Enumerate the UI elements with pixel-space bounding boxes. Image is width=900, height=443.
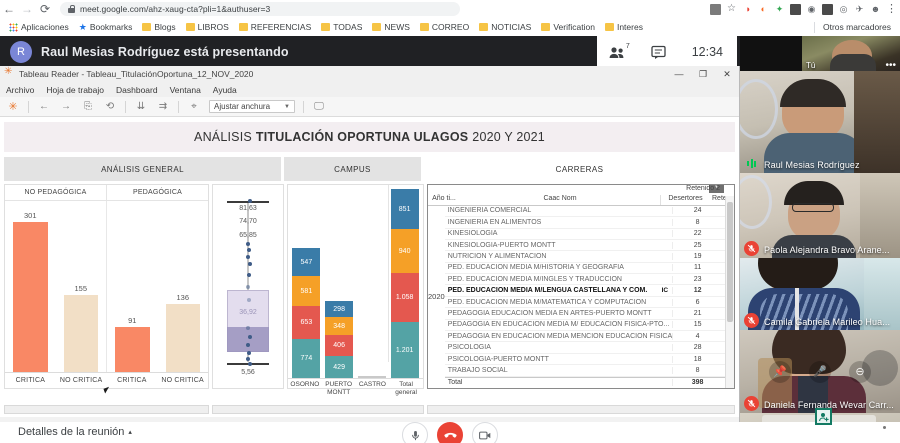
fit-select-value: Ajustar anchura: [214, 102, 270, 111]
panel-header-carreras: CARRERAS: [424, 157, 735, 181]
table-row[interactable]: PEDAGOGIA EN EDUCACION MEDIA MENCION EDU…: [445, 331, 735, 342]
meeting-details-label: Detalles de la reunión: [18, 426, 124, 438]
video-tile-paola[interactable]: Paola Alejandra Bravo Arane...: [740, 173, 900, 258]
bookmark-label: NEWS: [384, 22, 410, 32]
tableau-window: Tableau Reader - Tableau_TitulaciónOport…: [0, 66, 740, 422]
data-point: [246, 357, 250, 361]
stack: 298 348 406 429: [325, 301, 353, 378]
cell-carrera: PED. EDUCACION MEDIA M/LENGUA CASTELLANA…: [445, 287, 662, 294]
folder-icon: [541, 23, 550, 31]
cell-desertores: 22: [672, 230, 722, 237]
participant-name: Camila Gabriela Marileo Hua...: [764, 317, 890, 327]
table-row-total: Total398: [445, 377, 735, 388]
segment-naranja[interactable]: 581: [292, 276, 320, 306]
browser-chrome: ← → ⟳ meet.google.com/ahz-xaug-cta?pli=1…: [0, 0, 900, 36]
bookmark-item-correo[interactable]: CORREO: [416, 21, 473, 33]
axis-tick-no-critica-2: NO CRITICA: [157, 373, 208, 388]
remove-icon[interactable]: ⊖: [849, 361, 871, 383]
table-row[interactable]: TRABAJO SOCIAL8: [445, 365, 735, 376]
folder-icon: [239, 23, 248, 31]
campus-column-castro[interactable]: [356, 189, 389, 378]
mic-button[interactable]: [402, 422, 428, 443]
cell-desertores: 28: [672, 344, 722, 351]
menu-item-ayuda[interactable]: Ayuda: [213, 85, 237, 95]
bookmark-label: REFERENCIAS: [251, 22, 311, 32]
cell-carrera: KINESIOLOGIA: [445, 230, 672, 237]
cell-carrera: INGENIERIA COMERCIAL: [445, 207, 672, 214]
highlight-icon[interactable]: ⌖: [187, 100, 201, 114]
self-label: Tú: [806, 61, 815, 70]
extension-green-icon[interactable]: ✦: [774, 4, 785, 15]
status-dot: [883, 426, 886, 429]
bookmark-item-bookmarks[interactable]: ★ Bookmarks: [75, 21, 137, 33]
horizontal-scrollbar-2[interactable]: [212, 405, 424, 414]
axis-tick-osorno: OSORNO: [288, 381, 322, 397]
bookmark-item-aplicaciones[interactable]: Aplicaciones: [5, 21, 73, 33]
campus-column-total[interactable]: 851 940 1.058 1.201: [388, 189, 421, 378]
axis-tick-total-general: Totalgeneral: [389, 381, 423, 397]
tableau-menubar: Archivo Hoja de trabajo Dashboard Ventan…: [0, 82, 739, 97]
table-header: Año ti... Caac Nom Desertores Rete: [428, 195, 734, 206]
cell-extra: IC: [662, 287, 673, 294]
campus-column-puerto-montt[interactable]: 298 348 406 429: [323, 189, 356, 378]
box-label-lower-whisker: 5,56: [241, 369, 255, 376]
bar-critica[interactable]: [13, 222, 48, 372]
cell-carrera: KINESIOLOGIA-PUERTO MONTT: [445, 242, 672, 249]
cell-desertores: 6: [672, 299, 722, 306]
cell-desertores: 4: [672, 333, 722, 340]
dashboard: ANÁLISIS TITULACIÓN OPORTUNA ULAGOS 2020…: [0, 117, 739, 417]
cell-desertores: 15: [672, 321, 722, 328]
tableau-titlebar: Tableau Reader - Tableau_TitulaciónOport…: [0, 66, 739, 82]
folder-icon: [186, 23, 195, 31]
cell-desertores: 11: [672, 264, 722, 271]
extension-grey-icon[interactable]: ◉: [806, 4, 817, 15]
cell-carrera: PED. EDUCACION MEDIA M/MATEMATICA Y COMP…: [445, 299, 672, 306]
cell-desertores: 25: [672, 242, 722, 249]
axis-tick-puerto-montt: PUERTOMONTT: [322, 381, 356, 397]
presentation-icon[interactable]: 🖵: [312, 100, 326, 114]
bar-critica[interactable]: [115, 327, 150, 372]
bookmark-item-noticias[interactable]: NOTICIAS: [475, 21, 535, 33]
cell-total-label: Total: [445, 379, 672, 386]
cell-desertores: 18: [672, 356, 722, 363]
table-row[interactable]: PSICOLOGIA-PUERTO MONTT18: [445, 354, 735, 365]
stacked-bar-chart-campus[interactable]: 547 581 653 774 298 348 406 429: [287, 184, 424, 389]
participant-name: Paola Alejandra Bravo Arane...: [764, 245, 890, 255]
bookmarks-bar: Aplicaciones ★ Bookmarks Blogs LIBROS RE…: [0, 18, 900, 36]
meeting-time: 12:34: [692, 45, 723, 59]
chevron-down-icon: ▼: [284, 104, 290, 110]
mic-muted-icon: [744, 313, 759, 328]
viz-row: NO PEDAGÓGICA PEDAGÓGICA 301 155: [4, 184, 735, 389]
bar-value: 301: [24, 211, 37, 220]
window-controls: — ❐ ✕: [667, 66, 739, 82]
box-label-q3: 74,70: [239, 218, 257, 225]
menu-item-dashboard[interactable]: Dashboard: [116, 85, 158, 95]
divider: [28, 101, 29, 113]
folder-icon: [605, 23, 614, 31]
cell-desertores: 8: [672, 367, 722, 374]
bar-chart-analisis-general[interactable]: NO PEDAGÓGICA PEDAGÓGICA 301 155: [4, 184, 209, 389]
extension-pin-icon[interactable]: ✈: [854, 4, 865, 15]
campus-plot: 547 581 653 774 298 348 406 429: [288, 185, 423, 378]
data-point: [246, 326, 250, 330]
menu-item-hoja-de-trabajo[interactable]: Hoja de trabajo: [46, 85, 104, 95]
segment-azul[interactable]: 298: [325, 301, 353, 317]
table-row[interactable]: KINESIOLOGIA-PUERTO MONTT25: [445, 240, 735, 251]
folder-icon: [479, 23, 488, 31]
row-group-year: 2020: [428, 206, 445, 388]
divider: [388, 185, 389, 362]
carreras-table[interactable]: ▾ Retenido 2 Año ti... Caac Nom Desertor…: [427, 184, 735, 389]
segment-roja[interactable]: 1.058: [391, 273, 419, 322]
table-group-header-row: Retenido 2: [428, 185, 734, 195]
folder-icon: [142, 23, 151, 31]
menu-item-archivo[interactable]: Archivo: [6, 85, 34, 95]
cell-desertores: 24: [672, 207, 722, 214]
extension-orange-icon[interactable]: ◐: [758, 4, 769, 15]
cell-carrera: PEDAGOGIA EN EDUCACION MEDIA MENCION EDU…: [445, 333, 672, 340]
table-row[interactable]: KINESIOLOGIA22: [445, 229, 735, 240]
bar-chart-axis: CRITICA NO CRITICA CRITICA NO CRITICA: [5, 372, 208, 388]
cell-carrera: PEDAGOGIA EN EDUCACION MEDIA M/ EDUCACIO…: [445, 321, 672, 328]
bookmark-item-verification[interactable]: Verification: [537, 21, 599, 33]
back-arrow-icon[interactable]: ←: [0, 0, 18, 18]
maximize-button[interactable]: ❐: [691, 66, 715, 82]
box-plot-chart[interactable]: 81,63 74,70 65,85 36,92 5,56: [212, 184, 284, 389]
folder-icon: [372, 23, 381, 31]
apps-grid-icon: [9, 23, 18, 32]
data-point: [247, 351, 251, 355]
pin-icon[interactable]: 📌: [769, 361, 791, 383]
cell-carrera: PSICOLOGIA-PUERTO MONTT: [445, 356, 672, 363]
bar-group-no-pedagogica: 301 155: [5, 201, 106, 372]
bookmark-label: Aplicaciones: [21, 22, 69, 32]
box-label-median: 36,92: [239, 309, 257, 316]
address-bar[interactable]: meet.google.com/ahz-xaug-cta?pli=1&authu…: [60, 2, 460, 16]
sort-asc-icon[interactable]: ⇊: [134, 100, 148, 114]
bookmark-label: TODAS: [333, 22, 362, 32]
url-text: meet.google.com/ahz-xaug-cta?pli=1&authu…: [80, 4, 270, 14]
segment-verde[interactable]: 429: [325, 356, 353, 378]
title-bold: TITULACIÓN OPORTUNA ULAGOS: [256, 130, 468, 144]
mic-muted-icon: [744, 396, 759, 411]
bar-value: 155: [74, 284, 87, 293]
axis-tick-critica-1: CRITICA: [5, 373, 56, 388]
bookmark-item-interes[interactable]: Interes: [601, 21, 647, 33]
window-title: Tableau Reader - Tableau_TitulaciónOport…: [19, 69, 253, 79]
table-body: 2020 INGENIERIA COMERCIAL24 INGENIERIA E…: [428, 206, 734, 388]
axis-tick-no-critica-1: NO CRITICA: [56, 373, 107, 388]
table-row[interactable]: INGENIERIA COMERCIAL24: [445, 206, 735, 217]
bar-column[interactable]: 91: [107, 201, 158, 372]
star-icon: ★: [79, 23, 87, 32]
bar-no-critica[interactable]: [166, 304, 201, 372]
self-video-tile[interactable]: Tú •••: [802, 36, 900, 71]
table-row[interactable]: PSICOLOGIA28: [445, 342, 735, 353]
bookmark-item-libros[interactable]: LIBROS: [182, 21, 233, 33]
segment-verde[interactable]: 774: [292, 339, 320, 378]
cell-carrera: NUTRICION Y ALIMENTACION: [445, 253, 672, 260]
bookmark-label: Bookmarks: [90, 22, 133, 32]
table-row[interactable]: PEDAGOGIA EN EDUCACION MEDIA M/ EDUCACIO…: [445, 320, 735, 331]
table-row[interactable]: PEDAGOGIA EDUCACION MEDIA EN ARTES-PUERT…: [445, 308, 735, 319]
bookmark-item-todas[interactable]: TODAS: [317, 21, 366, 33]
title-post: 2020 Y 2021: [472, 130, 545, 144]
presenting-banner: R Raul Mesias Rodríguez está presentando: [10, 41, 289, 63]
cell-carrera: PED. EDUCACION MEDIA M/HISTORIA Y GEOGRA…: [445, 264, 672, 271]
table-row[interactable]: NUTRICION Y ALIMENTACION19: [445, 251, 735, 262]
video-tile-camila[interactable]: Camila Gabriela Marileo Hua...: [740, 258, 900, 330]
extension-circle-icon[interactable]: ◎: [838, 4, 849, 15]
chrome-menu-icon[interactable]: ⋮: [886, 4, 897, 15]
table-row[interactable]: INGENIERIA EN ALIMENTOS8: [445, 217, 735, 228]
refresh-icon[interactable]: ⟲: [103, 100, 117, 114]
forward-arrow-icon[interactable]: →: [59, 100, 73, 114]
bookmark-item-referencias[interactable]: REFERENCIAS: [235, 21, 315, 33]
col-header-desertores[interactable]: Desertores: [660, 195, 710, 205]
extension-dark2-icon[interactable]: [822, 4, 833, 15]
axis-tick-castro: CASTRO: [356, 381, 390, 397]
participant-name: Raul Mesias Rodríguez: [764, 160, 860, 170]
omnibox-row: ← → ⟳ meet.google.com/ahz-xaug-cta?pli=1…: [0, 0, 900, 18]
cell-carrera: INGENIERIA EN ALIMENTOS: [445, 219, 672, 226]
bookmark-label: CORREO: [432, 22, 469, 32]
bar-column[interactable]: 301: [5, 201, 56, 372]
horizontal-scrollbar-1[interactable]: [4, 405, 209, 414]
people-icon[interactable]: 7: [609, 46, 625, 59]
divider: [303, 101, 304, 113]
tableau-logo-icon[interactable]: ✳: [6, 100, 20, 114]
bar-chart-group-headers: NO PEDAGÓGICA PEDAGÓGICA: [5, 185, 208, 201]
cell-carrera: TRABAJO SOCIAL: [445, 367, 672, 374]
extension-icons: ☆ ◑ ◐ ✦ ◉ ◎ ✈ ☻ ⋮: [710, 0, 897, 18]
tableau-logo-icon: [5, 70, 14, 79]
segment-naranja[interactable]: 940: [391, 229, 419, 273]
scrollbar-thumb[interactable]: [727, 202, 733, 322]
table-row[interactable]: PED. EDUCACION MEDIA M/HISTORIA Y GEOGRA…: [445, 263, 735, 274]
folder-icon: [420, 23, 429, 31]
segment-naranja[interactable]: 348: [325, 317, 353, 335]
bar-group-pedagogica: 91 136: [106, 201, 208, 372]
cell-desertores: 23: [672, 276, 722, 283]
table-scrollbar[interactable]: [725, 196, 734, 388]
chat-icon[interactable]: [651, 45, 666, 59]
cell-desertores: 12: [672, 287, 722, 294]
dashboard-title: ANÁLISIS TITULACIÓN OPORTUNA ULAGOS 2020…: [4, 122, 735, 152]
bookmark-label: LIBROS: [198, 22, 229, 32]
cast-icon[interactable]: [710, 4, 721, 15]
panel-header-campus: CAMPUS: [284, 157, 421, 181]
meet-bottom-bar: Detalles de la reunión ▴: [0, 422, 900, 443]
bookmark-item-news[interactable]: NEWS: [368, 21, 414, 33]
box-inner-band: [227, 327, 269, 352]
mic-muted-icon: [744, 241, 759, 256]
data-point: [248, 199, 252, 203]
back-arrow-icon[interactable]: ←: [37, 100, 51, 114]
panel-headers: ANÁLISIS GENERAL CAMPUS CARRERAS: [4, 157, 735, 181]
table-row[interactable]: PED. EDUCACION MEDIA M/INGLES Y TRADUCCI…: [445, 274, 735, 285]
data-point: [247, 298, 251, 302]
sort-desc-icon[interactable]: ⇉: [156, 100, 170, 114]
cell-carrera: PEDAGOGIA EDUCACION MEDIA EN ARTES-PUERT…: [445, 310, 672, 317]
bar-no-critica[interactable]: [64, 295, 99, 372]
bar-chart-plot: 301 155 91: [5, 201, 208, 372]
segment-azul[interactable]: 547: [292, 248, 320, 276]
participants-count: 7: [626, 43, 630, 50]
segment-roja[interactable]: 406: [325, 335, 353, 356]
panel-header-analisis-general: ANÁLISIS GENERAL: [4, 157, 281, 181]
campus-axis: OSORNO PUERTOMONTT CASTRO Totalgeneral: [288, 378, 423, 397]
col-header-caac-nom[interactable]: Caac Nom: [460, 195, 660, 205]
cell-carrera: PED. EDUCACION MEDIA M/INGLES Y TRADUCCI…: [445, 276, 672, 283]
meet-call-controls: [402, 422, 498, 443]
divider: [178, 101, 179, 113]
cell-desertores: 21: [672, 310, 722, 317]
bookmark-label: NOTICIAS: [491, 22, 531, 32]
cell-total-value: 398: [672, 379, 722, 386]
bar-value: 136: [176, 293, 189, 302]
segment-roja[interactable]: 653: [292, 306, 320, 339]
screen: ← → ⟳ meet.google.com/ahz-xaug-cta?pli=1…: [0, 0, 900, 443]
axis-tick-critica-2: CRITICA: [107, 373, 158, 388]
bookmark-label: Blogs: [154, 22, 175, 32]
lock-icon: [68, 5, 75, 13]
participant-video-strip: Tú ••• Raul Mesias Rodríguez Paola Al: [740, 36, 900, 443]
folder-icon: [321, 23, 330, 31]
video-tile-daniela[interactable]: 📌 🎤 ⊖ Daniela Fernanda Wevar Carr...: [740, 330, 900, 413]
other-bookmarks-area: Otros marcadores: [814, 22, 895, 33]
data-point: [246, 285, 250, 289]
box-label-upper-whisker: 81,63: [239, 205, 257, 212]
table-row-selected[interactable]: PED. EDUCACION MEDIA M/LENGUA CASTELLANA…: [445, 285, 735, 296]
data-point: [248, 335, 252, 339]
horizontal-scrollbar-3[interactable]: [427, 405, 735, 414]
campus-column-osorno[interactable]: 547 581 653 774: [290, 189, 323, 378]
bookmark-star-icon[interactable]: ☆: [726, 4, 737, 15]
divider: [125, 101, 126, 113]
close-button[interactable]: ✕: [715, 66, 739, 82]
fit-select[interactable]: Ajustar anchura ▼: [209, 100, 295, 113]
data-point: [248, 262, 252, 266]
divider: [814, 22, 815, 33]
col-header-ano[interactable]: Año ti...: [428, 195, 460, 205]
undo-icon[interactable]: ⎘: [81, 100, 95, 114]
avatar: R: [10, 41, 32, 63]
stack: 547 581 653 774: [292, 248, 320, 378]
add-person-button[interactable]: [815, 408, 832, 425]
bar-value: 91: [128, 316, 136, 325]
title-pre: ANÁLISIS: [194, 130, 252, 144]
mic-active-icon: [744, 156, 759, 171]
meet-topbar-actions: 7 12:34: [597, 36, 737, 68]
bar-column[interactable]: 155: [56, 201, 107, 372]
segment-verde[interactable]: 1.201: [391, 322, 419, 378]
data-point: [248, 362, 252, 366]
menu-item-ventana[interactable]: Ventana: [170, 85, 201, 95]
cell-desertores: 8: [672, 219, 722, 226]
bookmark-item-blogs[interactable]: Blogs: [138, 21, 179, 33]
extension-red-icon[interactable]: ◑: [742, 4, 753, 15]
data-point: [247, 248, 251, 252]
stack: 851 940 1.058 1.201: [391, 189, 419, 378]
other-bookmarks-label[interactable]: Otros marcadores: [823, 22, 891, 32]
table-rows: INGENIERIA COMERCIAL24 INGENIERIA EN ALI…: [445, 206, 735, 388]
bookmark-label: Verification: [553, 22, 595, 32]
minimize-button[interactable]: —: [667, 66, 691, 82]
profile-avatar-icon[interactable]: ☻: [870, 4, 881, 15]
video-tile-raul[interactable]: Raul Mesias Rodríguez: [740, 71, 900, 173]
data-point: [246, 343, 250, 347]
extension-dark-icon[interactable]: [790, 4, 801, 15]
group-header-retenido: Retenido 2: [686, 185, 720, 192]
presenting-label: Raul Mesias Rodríguez está presentando: [41, 45, 289, 59]
more-options-icon[interactable]: •••: [885, 64, 896, 68]
cell-carrera: PSICOLOGIA: [445, 344, 672, 351]
box-label-median-upper: 65,85: [239, 232, 257, 239]
camera-button[interactable]: [472, 422, 498, 443]
data-point: [246, 242, 250, 246]
segment-azul[interactable]: 851: [391, 189, 419, 229]
meeting-details[interactable]: Detalles de la reunión ▴: [18, 426, 132, 438]
mute-icon[interactable]: 🎤: [809, 361, 831, 383]
chevron-up-icon: ▴: [128, 428, 132, 436]
reload-icon[interactable]: ⟳: [36, 0, 54, 18]
group-label-pedagogica: PEDAGÓGICA: [106, 185, 208, 200]
bar-column[interactable]: 136: [158, 201, 209, 372]
tile-hover-actions: 📌 🎤 ⊖: [769, 361, 871, 383]
hangup-button[interactable]: [437, 422, 463, 443]
forward-arrow-icon[interactable]: →: [18, 0, 36, 18]
group-label-no-pedagogica: NO PEDAGÓGICA: [5, 185, 106, 200]
audio-equalizer-icon: [747, 159, 756, 168]
bookmark-label: Interes: [617, 22, 643, 32]
cell-desertores: 19: [672, 253, 722, 260]
table-row[interactable]: PED. EDUCACION MEDIA M/MATEMATICA Y COMP…: [445, 297, 735, 308]
tableau-toolbar: ✳ ← → ⎘ ⟲ ⇊ ⇉ ⌖ Ajustar anchura ▼ 🖵: [0, 97, 739, 117]
data-point: [247, 273, 251, 277]
data-point: [246, 255, 250, 259]
dashboard-bottom-bars: [4, 405, 735, 414]
